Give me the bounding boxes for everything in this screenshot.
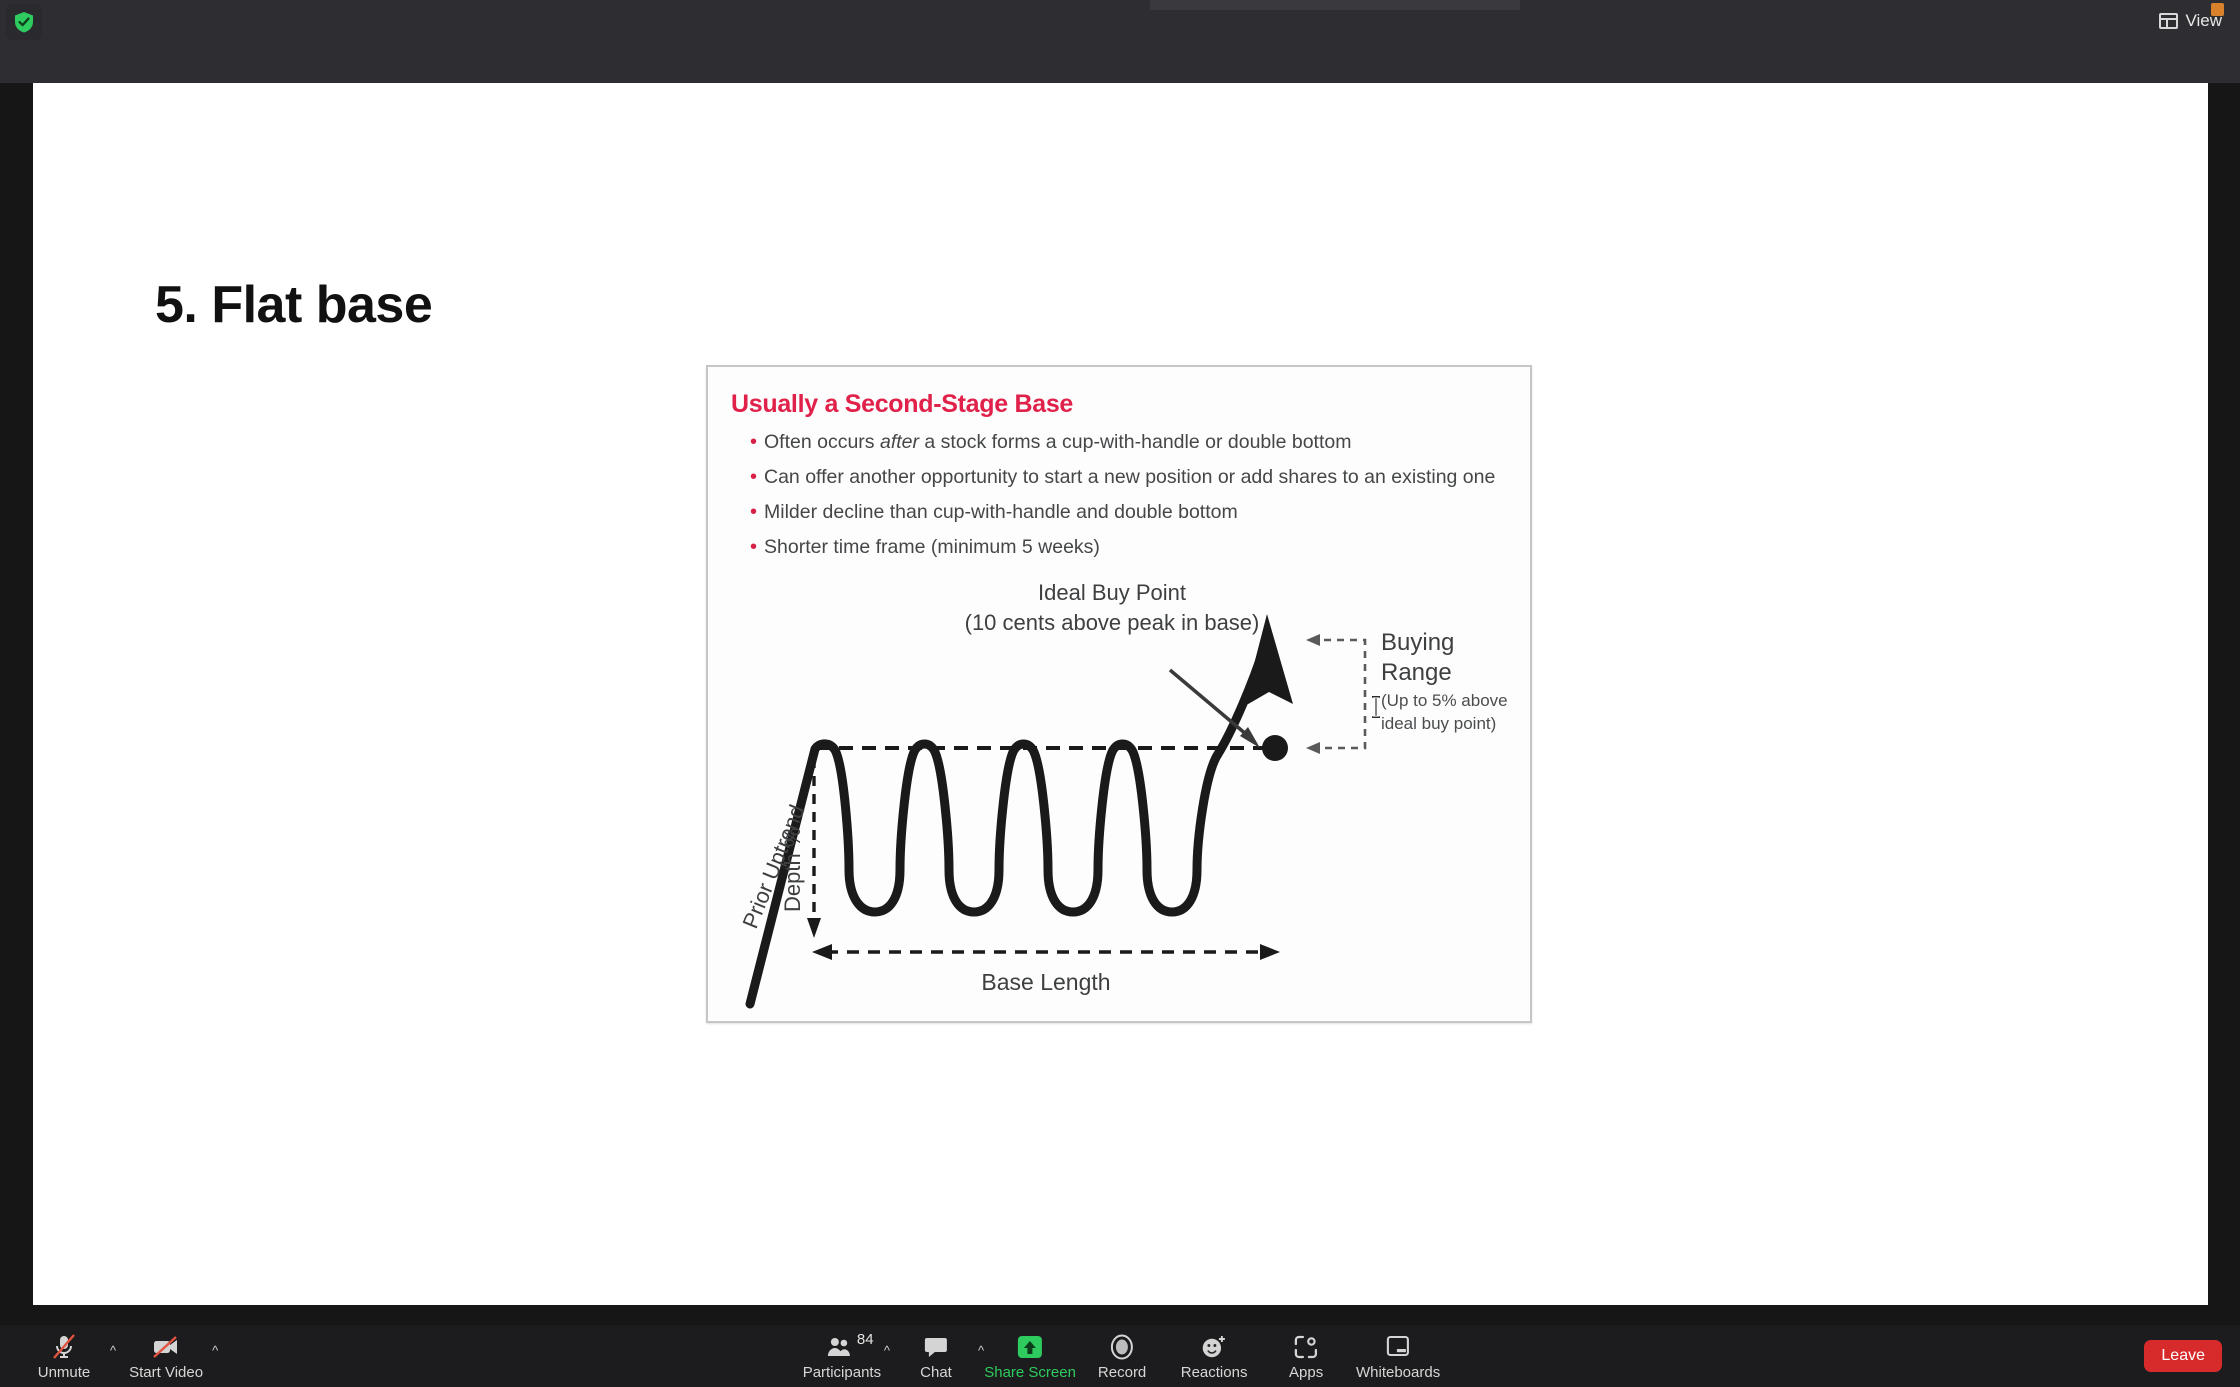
depth-percent-label: Depth % xyxy=(780,828,805,912)
start-video-button-label: Start Video xyxy=(129,1364,203,1381)
reactions-smiley-plus-icon xyxy=(1200,1332,1228,1362)
ideal-buy-point-label-line2: (10 cents above peak in base) xyxy=(965,610,1260,635)
buying-range-bracket xyxy=(1311,640,1365,748)
meeting-toolbar: Unmute ^ Start Video ^ xyxy=(0,1325,2240,1387)
record-circle-icon xyxy=(1108,1332,1136,1362)
depth-percent-arrow-head xyxy=(807,918,821,938)
reactions-button-label: Reactions xyxy=(1181,1364,1248,1381)
ideal-buy-point-dot xyxy=(1262,735,1288,761)
whiteboard-icon xyxy=(1385,1332,1411,1362)
bullet-dot-icon: • xyxy=(746,497,764,528)
buying-range-arrow-bottom xyxy=(1306,742,1320,754)
page-title: 5. Flat base xyxy=(155,275,432,335)
buying-range-sublabel-line2: ideal buy point) xyxy=(1381,714,1496,733)
microphone-muted-icon xyxy=(51,1332,77,1362)
security-shield-icon[interactable] xyxy=(6,4,42,40)
chat-button[interactable]: Chat xyxy=(890,1330,982,1381)
bullet-text: Can offer another opportunity to start a… xyxy=(764,462,1506,493)
ideal-buy-point-label-line1: Ideal Buy Point xyxy=(1038,580,1186,605)
top-bar-right-controls: View xyxy=(2153,7,2228,35)
buying-range-sublabel-line1: (Up to 5% above xyxy=(1381,691,1508,710)
toolbar-left-group: Unmute ^ Start Video ^ xyxy=(18,1330,218,1381)
text-cursor-icon xyxy=(1369,695,1383,719)
figure-bullet-list: • Often occurs after a stock forms a cup… xyxy=(746,427,1506,567)
list-item: • Can offer another opportunity to start… xyxy=(746,462,1506,493)
list-item: • Milder decline than cup-with-handle an… xyxy=(746,497,1506,528)
share-screen-button-label: Share Screen xyxy=(984,1364,1076,1381)
chat-button-label: Chat xyxy=(920,1364,952,1381)
camera-muted-icon xyxy=(151,1332,181,1362)
apps-button[interactable]: Apps xyxy=(1260,1330,1352,1381)
view-button[interactable]: View xyxy=(2153,8,2228,34)
base-length-arrow-left xyxy=(812,944,832,960)
participants-button[interactable]: 84 Participants xyxy=(796,1330,888,1381)
bullet-dot-icon: • xyxy=(746,427,764,458)
record-button[interactable]: Record xyxy=(1076,1330,1168,1381)
base-length-arrow-right xyxy=(1260,944,1280,960)
list-item: • Often occurs after a stock forms a cup… xyxy=(746,427,1506,458)
participants-count-badge: 84 xyxy=(857,1331,874,1348)
whiteboards-button-label: Whiteboards xyxy=(1356,1364,1440,1381)
shared-screen-slide: 5. Flat base Usually a Second-Stage Base… xyxy=(33,83,2208,1305)
buying-range-label-line2: Range xyxy=(1381,659,1452,686)
zoom-meeting-window: View 5. Flat base Usually a Second-Stage… xyxy=(0,0,2240,1387)
grid-view-icon xyxy=(2159,13,2178,29)
view-notification-dot xyxy=(2211,3,2224,16)
figure-frame: Usually a Second-Stage Base • Often occu… xyxy=(706,365,1532,1023)
start-video-button[interactable]: Start Video xyxy=(120,1330,212,1381)
video-options-chevron-up-icon[interactable]: ^ xyxy=(212,1344,218,1357)
bullet-dot-icon: • xyxy=(746,462,764,493)
base-length-label: Base Length xyxy=(981,969,1110,995)
leave-button[interactable]: Leave xyxy=(2144,1340,2222,1372)
flat-base-chart: Ideal Buy Point (10 cents above peak in … xyxy=(708,552,1530,1021)
apps-button-label: Apps xyxy=(1289,1364,1323,1381)
buying-range-arrow-top xyxy=(1306,634,1320,646)
reactions-button[interactable]: Reactions xyxy=(1168,1330,1260,1381)
top-bar: View xyxy=(0,0,2240,83)
apps-bracket-icon xyxy=(1293,1332,1319,1362)
participants-icon: 84 xyxy=(827,1332,857,1362)
share-screen-button[interactable]: Share Screen xyxy=(984,1330,1076,1381)
record-button-label: Record xyxy=(1098,1364,1146,1381)
unmute-button[interactable]: Unmute xyxy=(18,1330,110,1381)
meeting-info-strip xyxy=(1150,0,1520,10)
figure-heading: Usually a Second-Stage Base xyxy=(731,390,1073,419)
bullet-text: Often occurs after a stock forms a cup-w… xyxy=(764,427,1506,458)
audio-options-chevron-up-icon[interactable]: ^ xyxy=(110,1344,116,1357)
unmute-button-label: Unmute xyxy=(38,1364,91,1381)
bullet-text: Milder decline than cup-with-handle and … xyxy=(764,497,1506,528)
buying-range-label-line1: Buying xyxy=(1381,629,1454,656)
chat-bubble-icon xyxy=(923,1332,949,1362)
participants-button-label: Participants xyxy=(803,1364,881,1381)
toolbar-center-group: 84 Participants ^ Chat ^ xyxy=(796,1330,1444,1381)
share-screen-up-arrow-icon xyxy=(1016,1332,1044,1362)
whiteboards-button[interactable]: Whiteboards xyxy=(1352,1330,1444,1381)
